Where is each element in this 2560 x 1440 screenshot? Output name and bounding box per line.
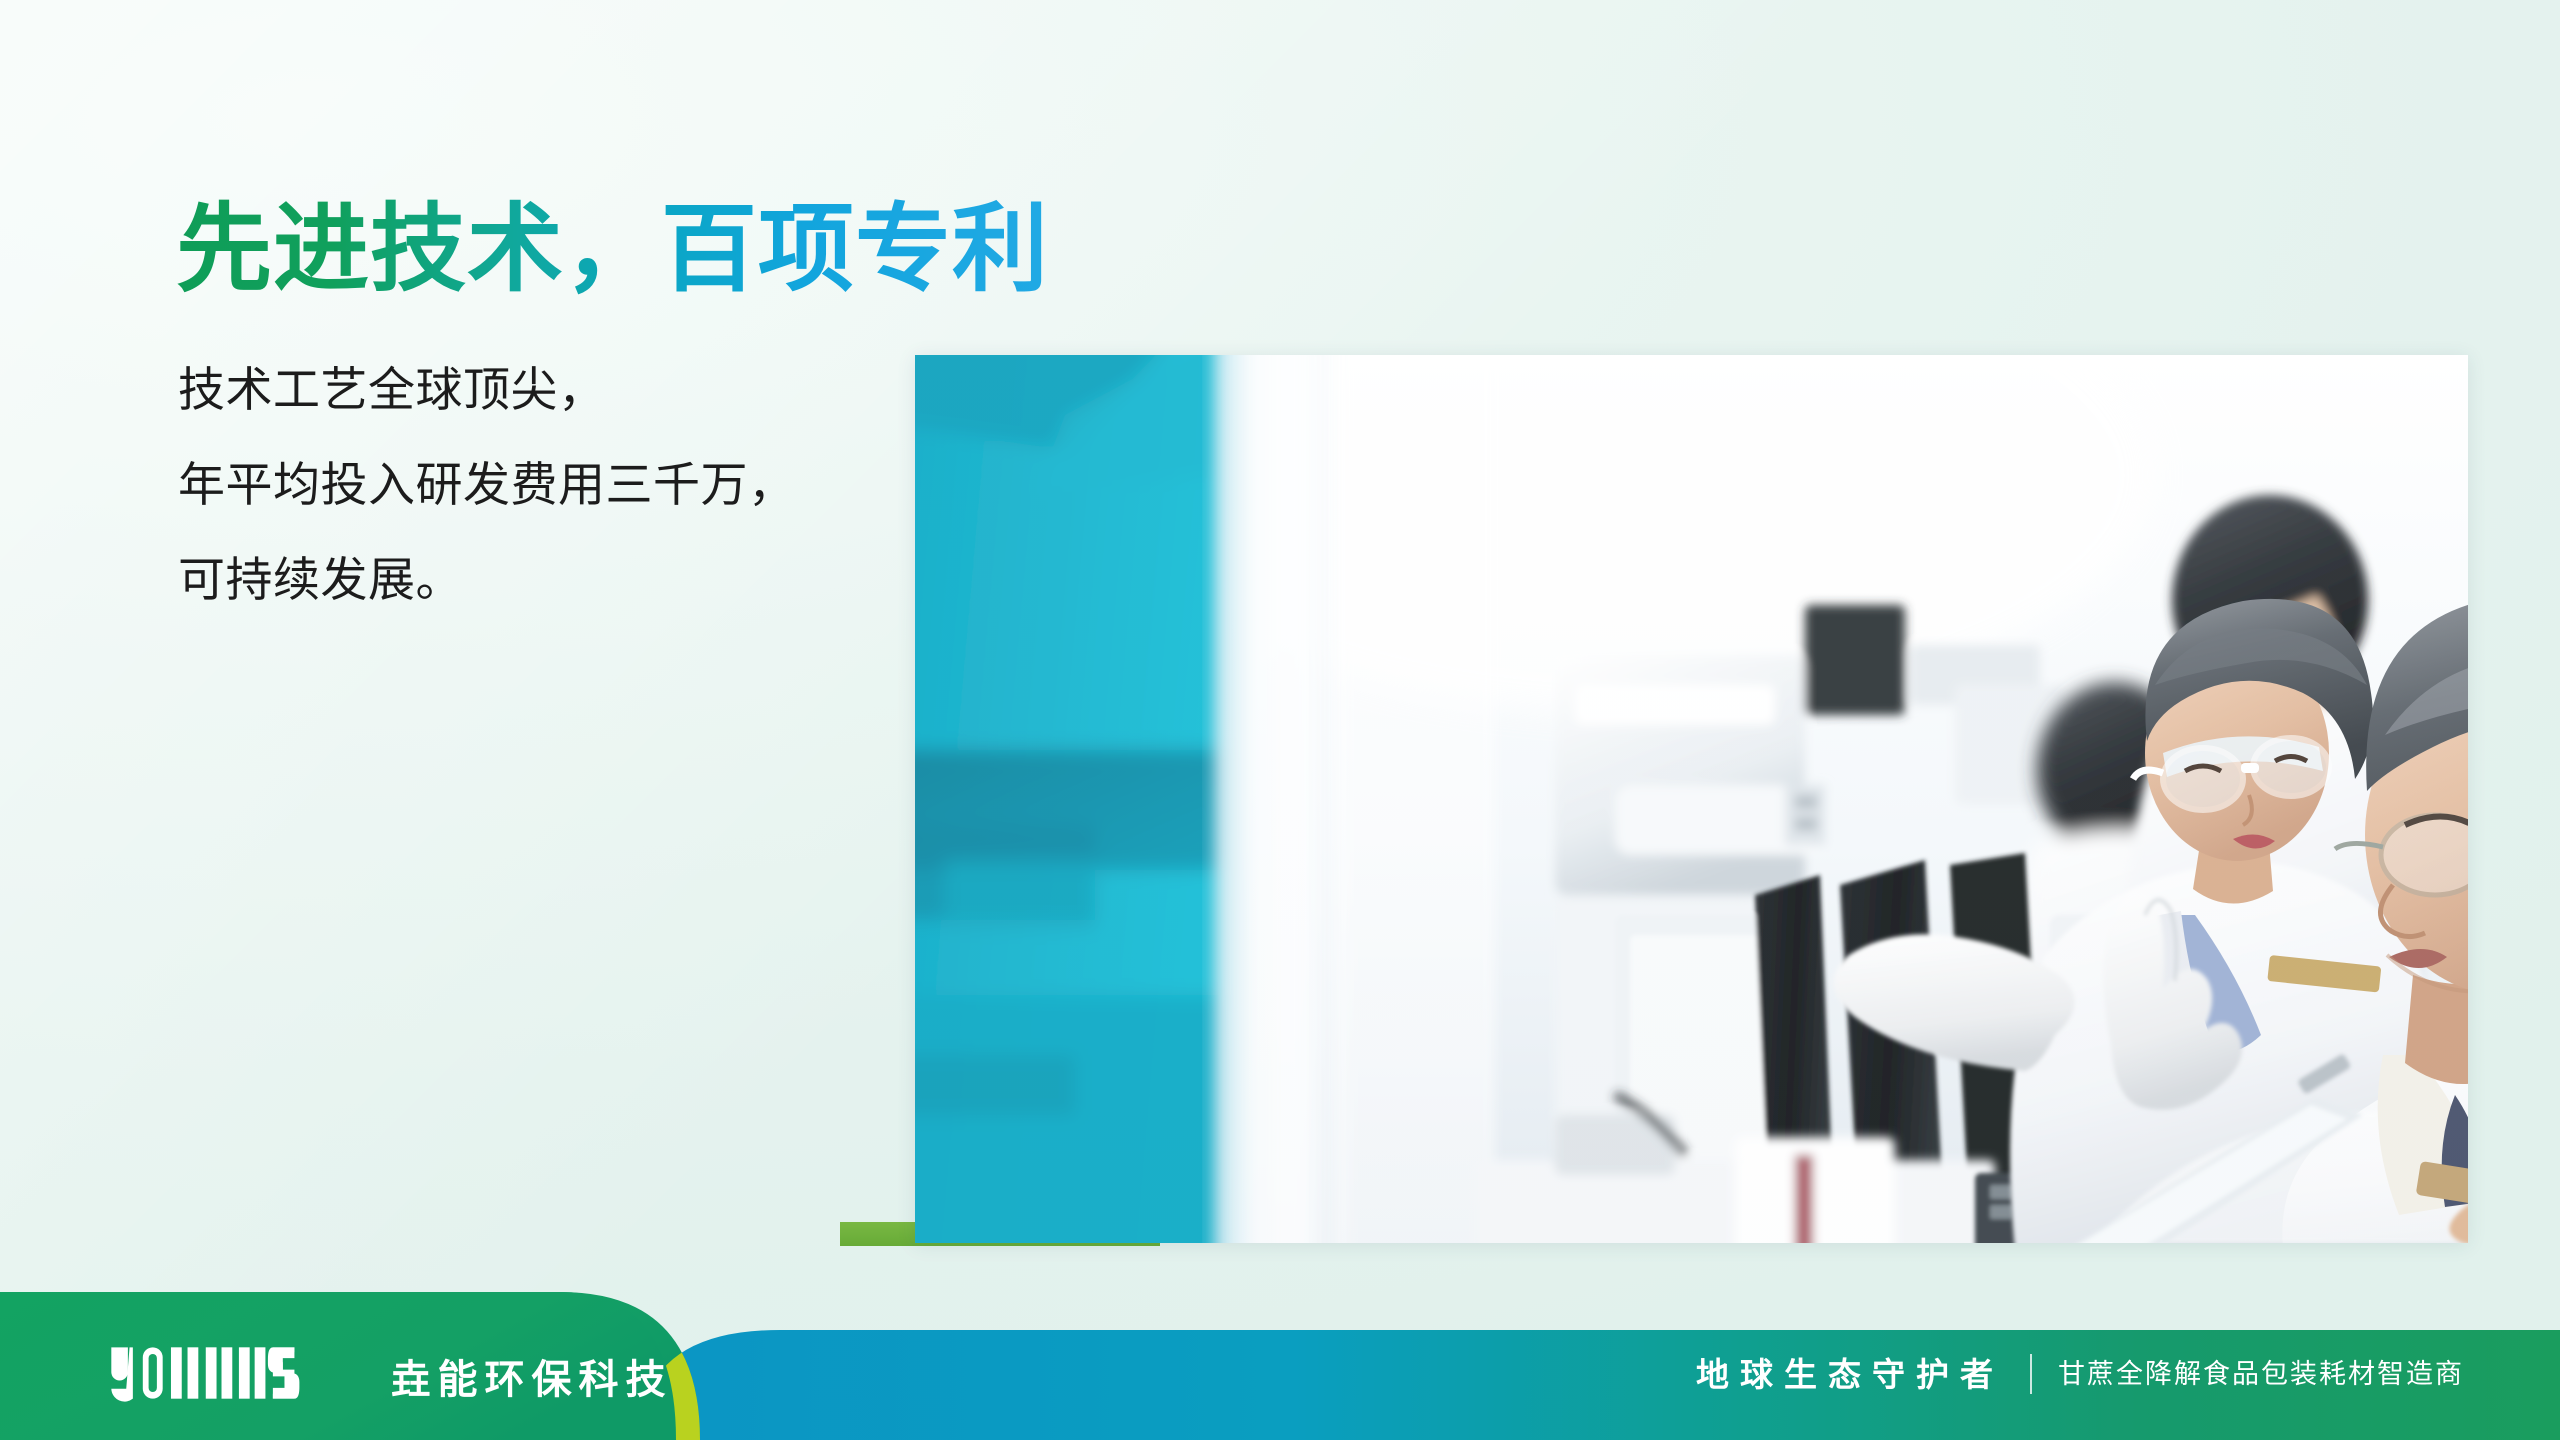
tagline-sub: 甘蔗全降解食品包装耗材智造商 [2058,1361,2464,1388]
lab-photo [915,355,2468,1243]
yoiins-wordmark-icon [108,1344,357,1402]
tagline-divider-icon [2030,1354,2032,1394]
footer-tagline: 地球生态守护者 甘蔗全降解食品包装耗材智造商 [1696,1354,2464,1394]
body-line-2: 年平均投入研发费用三千万， [178,437,796,532]
body-copy: 技术工艺全球顶尖， 年平均投入研发费用三千万， 可持续发展。 [178,342,796,627]
body-line-3: 可持续发展。 [178,532,796,627]
body-line-1: 技术工艺全球顶尖， [178,342,796,437]
slide-canvas: 先进技术，百项专利 技术工艺全球顶尖， 年平均投入研发费用三千万， 可持续发展。 [0,0,2560,1440]
brand-logo[interactable]: 垚能环保科技 [108,1344,673,1402]
page-title: 先进技术，百项专利 [176,196,1049,304]
company-name-cn: 垚能环保科技 [391,1360,673,1402]
tagline-main: 地球生态守护者 [1696,1358,2004,1391]
